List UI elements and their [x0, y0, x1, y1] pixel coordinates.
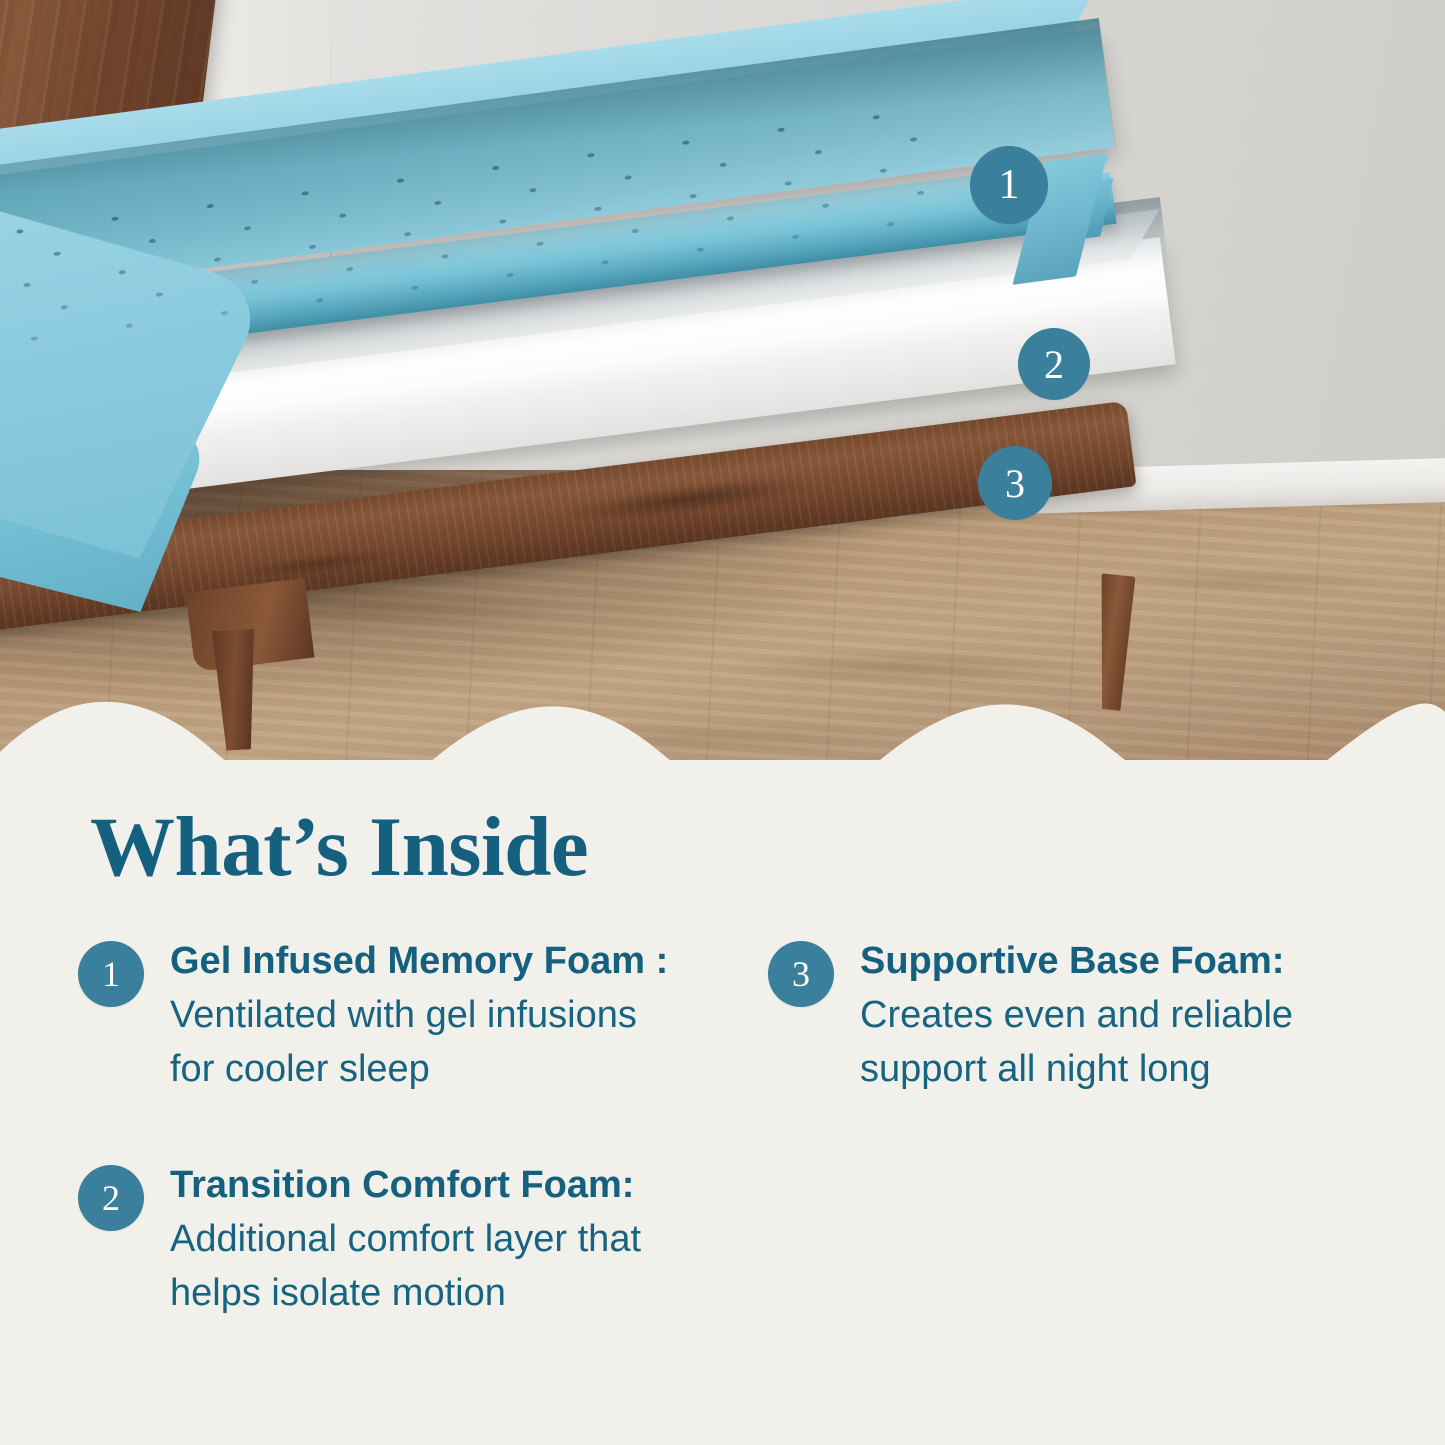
ventilation-hole	[16, 229, 23, 234]
content-section: What’s Inside 1 Gel Infused Memory Foam …	[0, 760, 1445, 1445]
ventilation-hole	[529, 188, 536, 193]
ventilation-hole	[536, 241, 543, 246]
wave-divider	[0, 640, 1445, 760]
ventilation-hole	[873, 115, 880, 120]
feature-title-3: Supportive Base Foam:	[860, 940, 1284, 982]
ventilation-hole	[126, 323, 133, 328]
feature-body-3: Creates even and reliable support all ni…	[860, 994, 1293, 1090]
feature-text-3: Supportive Base Foam: Creates even and r…	[860, 935, 1360, 1097]
ventilation-hole	[251, 279, 258, 284]
ventilation-hole	[697, 247, 704, 252]
ventilation-hole	[601, 260, 608, 265]
ventilation-hole	[815, 150, 822, 155]
ventilation-hole	[792, 234, 799, 239]
ventilation-hole	[23, 283, 30, 288]
feature-body-1: Ventilated with gel infusions for cooler…	[170, 994, 637, 1090]
page-title: What’s Inside	[90, 805, 588, 890]
feature-item-1: 1 Gel Infused Memory Foam : Ventilated w…	[78, 935, 688, 1097]
ventilation-hole	[624, 175, 631, 180]
ventilation-hole	[309, 244, 316, 249]
ventilation-hole	[221, 311, 228, 316]
ventilation-hole	[785, 181, 792, 186]
ventilation-hole	[302, 191, 309, 196]
ventilation-hole	[156, 292, 163, 297]
whats-inside-infographic: 1 2 3 What’s Inside 1 Gel Infused Memory…	[0, 0, 1445, 1445]
photo-marker-2: 2	[1018, 328, 1090, 400]
feature-item-2: 2 Transition Comfort Foam: Additional co…	[78, 1159, 688, 1321]
ventilation-hole	[631, 229, 638, 234]
ventilation-hole	[441, 254, 448, 259]
feature-title-2: Transition Comfort Foam:	[170, 1164, 634, 1206]
ventilation-hole	[346, 267, 353, 272]
ventilation-hole	[506, 273, 513, 278]
ventilation-hole	[30, 336, 37, 341]
ventilation-hole	[434, 200, 441, 205]
ventilation-hole	[587, 153, 594, 158]
ventilation-hole	[822, 203, 829, 208]
ventilation-hole	[316, 298, 323, 303]
photo-marker-1-label: 1	[999, 161, 1020, 209]
ventilation-hole	[411, 285, 418, 290]
ventilation-hole	[719, 162, 726, 167]
feature-badge-2-number: 2	[102, 1177, 120, 1219]
ventilation-hole	[492, 166, 499, 171]
ventilation-hole	[880, 168, 887, 173]
ventilation-hole	[917, 191, 924, 196]
mattress-photo: 1 2 3	[0, 0, 1445, 760]
ventilation-hole	[214, 257, 221, 262]
ventilation-hole	[339, 213, 346, 218]
ventilation-hole	[149, 239, 156, 244]
ventilation-hole	[727, 216, 734, 221]
ventilation-hole	[887, 222, 894, 227]
ventilation-hole	[206, 204, 213, 209]
feature-badge-1: 1	[78, 941, 144, 1007]
feature-body-2: Additional comfort layer that helps isol…	[170, 1218, 641, 1314]
ventilation-hole	[777, 127, 784, 132]
feature-badge-1-number: 1	[102, 953, 120, 995]
photo-marker-3-label: 3	[1005, 460, 1025, 507]
feature-column-left: 1 Gel Infused Memory Foam : Ventilated w…	[78, 935, 688, 1383]
feature-badge-3-number: 3	[792, 953, 810, 995]
ventilation-hole	[910, 137, 917, 142]
feature-text-1: Gel Infused Memory Foam : Ventilated wit…	[170, 935, 670, 1097]
feature-text-2: Transition Comfort Foam: Additional comf…	[170, 1159, 670, 1321]
ventilation-hole	[111, 216, 118, 221]
feature-badge-3: 3	[768, 941, 834, 1007]
feature-title-1: Gel Infused Memory Foam :	[170, 940, 668, 982]
photo-marker-2-label: 2	[1044, 341, 1064, 388]
ventilation-hole	[53, 251, 60, 256]
ventilation-hole	[404, 232, 411, 237]
ventilation-hole	[397, 178, 404, 183]
ventilation-hole	[118, 270, 125, 275]
ventilation-hole	[594, 206, 601, 211]
photo-marker-1: 1	[970, 146, 1048, 224]
ventilation-hole	[682, 140, 689, 145]
ventilation-hole	[61, 305, 68, 310]
ventilation-hole	[689, 194, 696, 199]
feature-columns: 1 Gel Infused Memory Foam : Ventilated w…	[78, 935, 1378, 1383]
ventilation-hole	[499, 219, 506, 224]
feature-item-3: 3 Supportive Base Foam: Creates even and…	[768, 935, 1378, 1097]
feature-badge-2: 2	[78, 1165, 144, 1231]
ventilation-hole	[244, 226, 251, 231]
photo-marker-3: 3	[978, 446, 1052, 520]
feature-column-right: 3 Supportive Base Foam: Creates even and…	[768, 935, 1378, 1383]
